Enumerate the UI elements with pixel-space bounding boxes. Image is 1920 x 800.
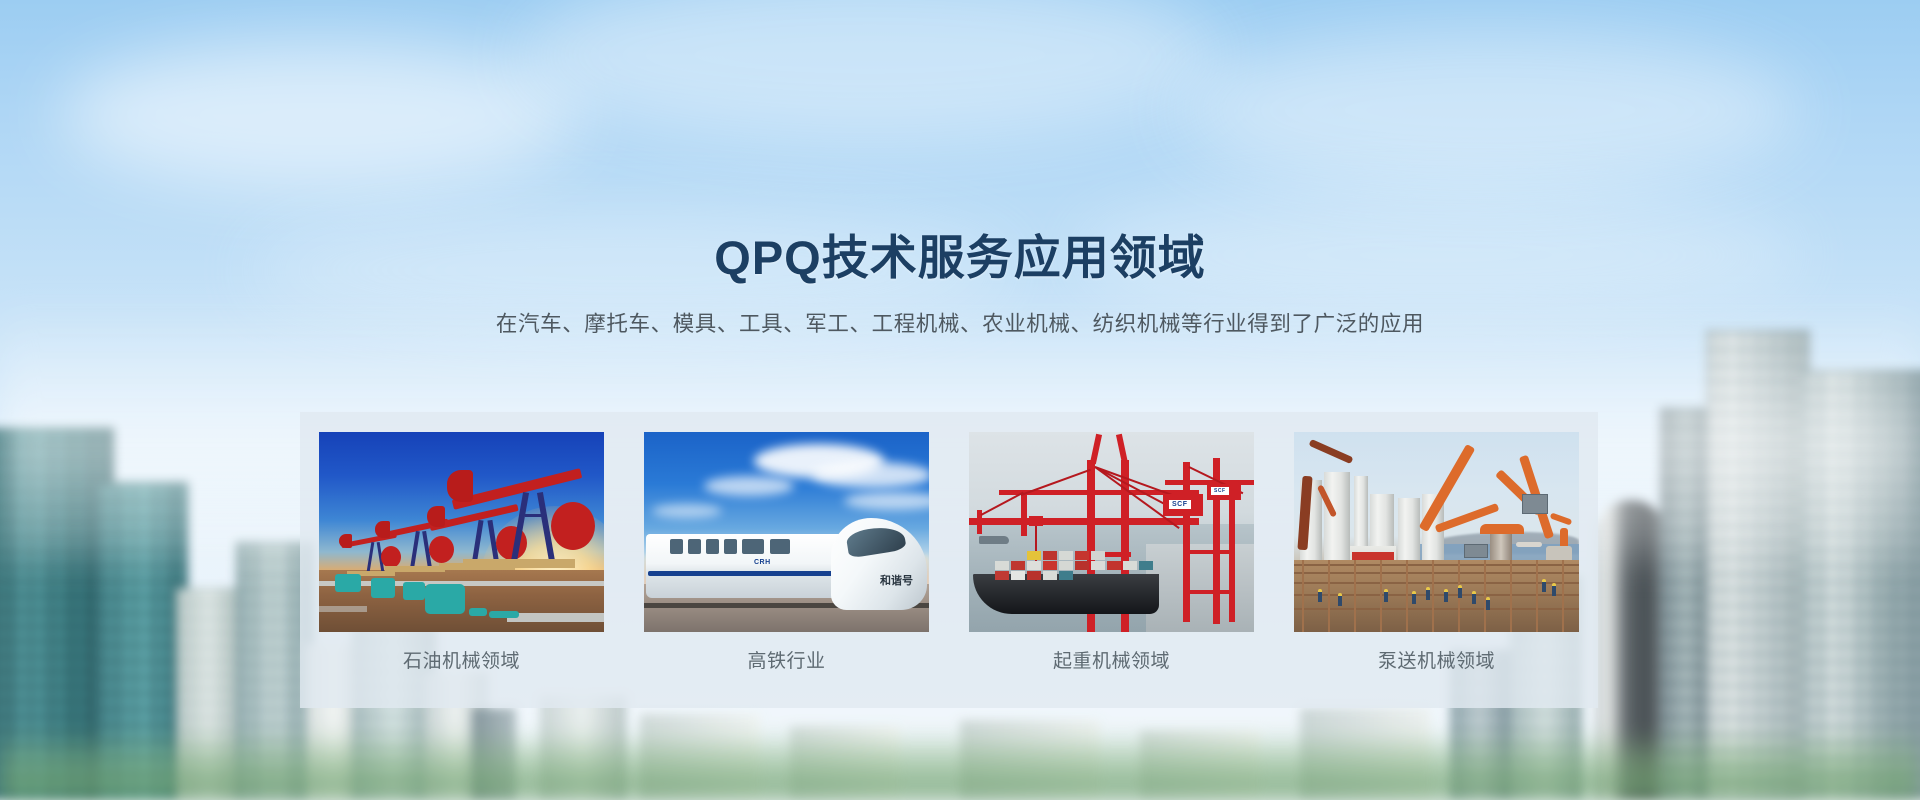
train-mark: 和谐号 [880,572,913,588]
crane-brand-label: SCF [1211,487,1229,495]
container-ship [973,574,1159,614]
cloud-decoration [60,40,580,190]
card-caption: 高铁行业 [644,646,929,673]
greenery-decoration [0,730,1920,800]
card-caption: 泵送机械领域 [1294,646,1579,673]
application-fields-panel: 石油机械领域 [300,412,1598,708]
train-blue-stripe [648,571,856,576]
card-oil-machinery[interactable]: 石油机械领域 [319,432,604,673]
quay-dock [1146,544,1254,632]
operator-cabin [1522,494,1548,514]
hero-banner: QPQ技术服务应用领域 在汽车、摩托车、模具、工具、军工、工程机械、农业机械、纺… [0,0,1920,800]
card-lifting-machinery[interactable]: SCF SCF [969,432,1254,673]
card-caption: 起重机械领域 [969,646,1254,673]
crane-brand-label: SCF [1169,500,1191,509]
oil-pumpjacks-sunset-photo[interactable] [319,432,604,632]
cloud-decoration [1180,30,1800,190]
page-subtitle: 在汽车、摩托车、模具、工具、军工、工程机械、农业机械、纺织机械等行业得到了广泛的… [0,309,1920,339]
banner-headings: QPQ技术服务应用领域 在汽车、摩托车、模具、工具、军工、工程机械、农业机械、纺… [0,232,1920,339]
construction-deck [1294,560,1579,632]
high-speed-train-photo[interactable]: CRH 和谐号 [644,432,929,632]
card-caption: 石油机械领域 [319,646,604,673]
page-title: QPQ技术服务应用领域 [0,232,1920,285]
cloud-decoration [520,0,1220,140]
card-high-speed-rail[interactable]: CRH 和谐号 高铁行业 [644,432,929,673]
concrete-pumping-machinery-photo[interactable] [1294,432,1579,632]
port-container-cranes-photo[interactable]: SCF SCF [969,432,1254,632]
card-list: 石油机械领域 [300,412,1598,708]
train-logo: CRH [754,559,771,566]
card-pumping-machinery[interactable]: 泵送机械领域 [1294,432,1579,673]
small-boat [979,536,1009,544]
